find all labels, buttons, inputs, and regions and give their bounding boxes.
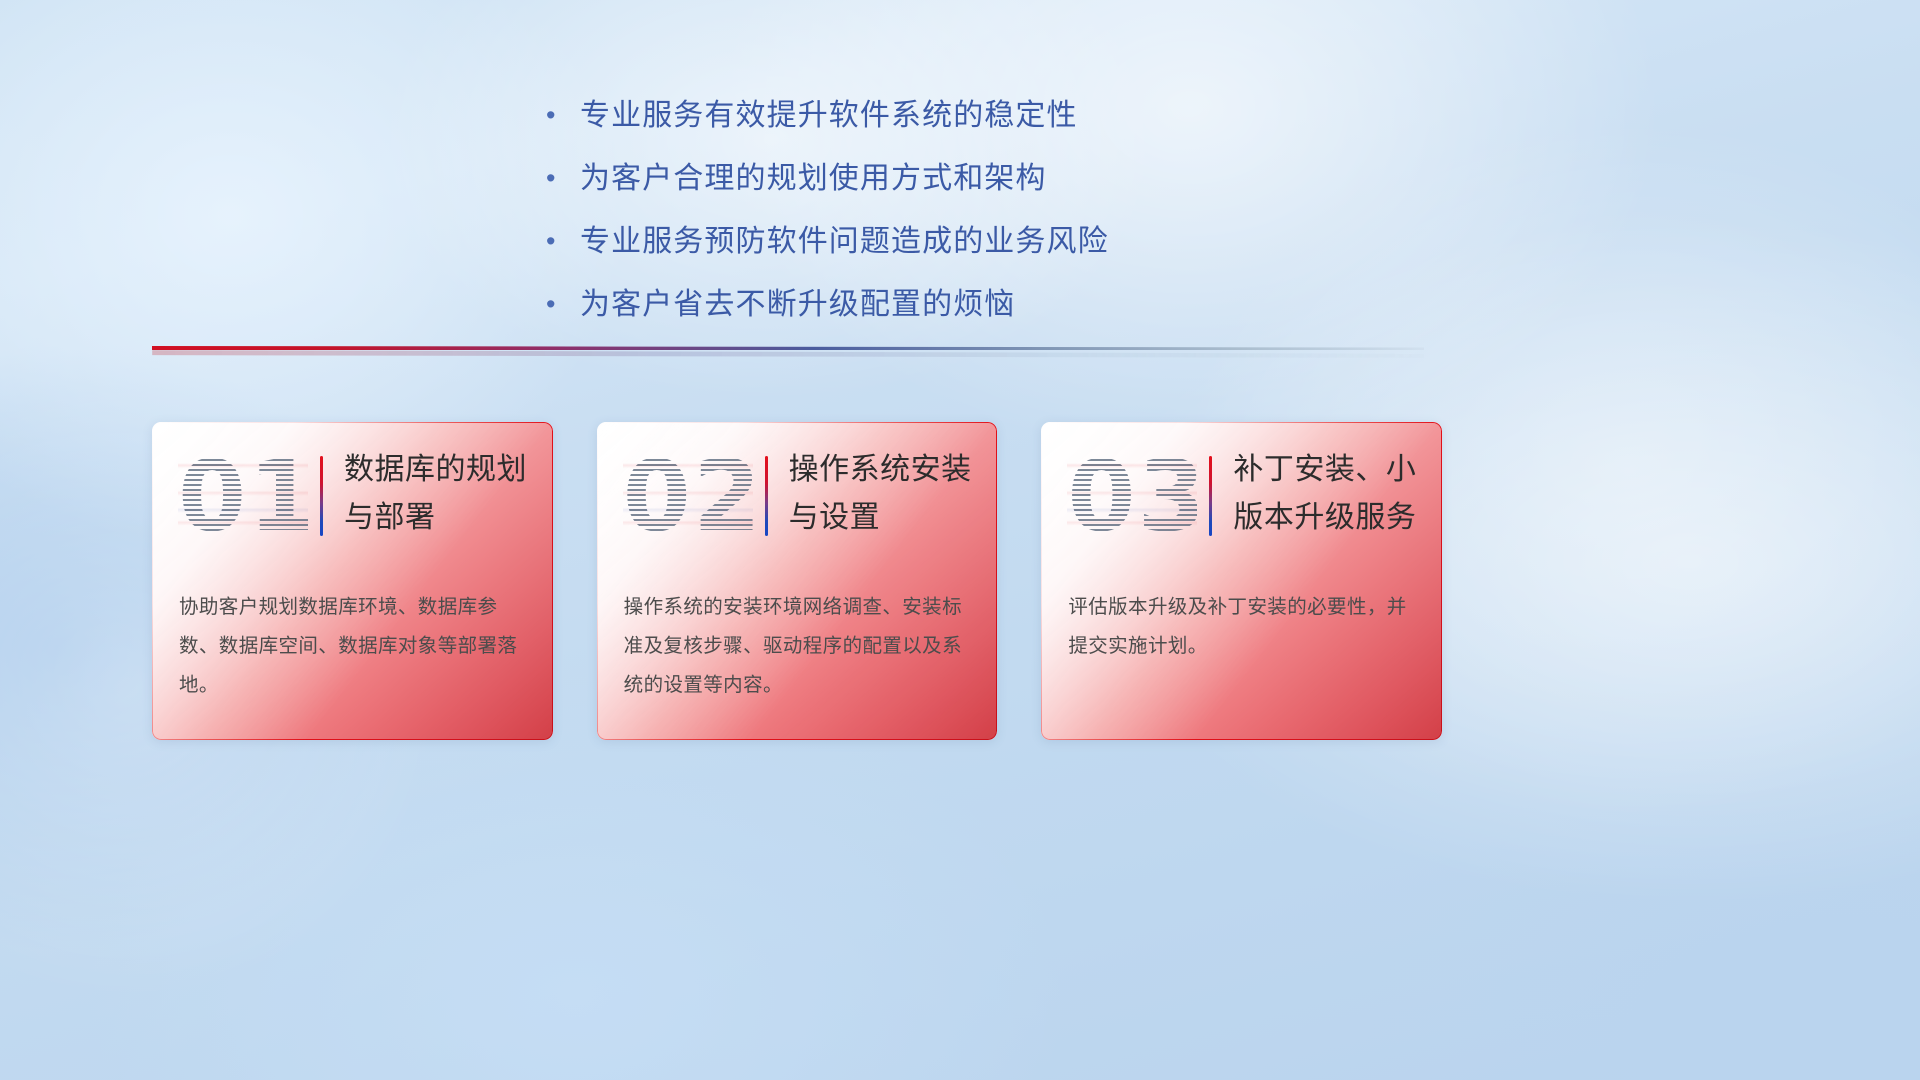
service-card-03[interactable]: 03 补丁安装、小 版本升级服务 评估版本升级及补丁安装的必要性，并提交实施计划… <box>1041 422 1442 740</box>
card-body-text: 协助客户规划数据库环境、数据库参数、数据库空间、数据库对象等部署落地。 <box>179 588 531 705</box>
card-title-line2: 版本升级服务 <box>1233 494 1423 542</box>
bullet-text: 专业服务有效提升软件系统的稳定性 <box>580 92 1078 139</box>
card-title-line1: 数据库的规划 <box>344 446 534 494</box>
card-number-watermark: 01 <box>178 444 308 550</box>
list-item: • 专业服务预防软件问题造成的业务风险 <box>540 218 1400 281</box>
card-title-line1: 操作系统安装 <box>789 446 979 494</box>
bullet-text: 为客户省去不断升级配置的烦恼 <box>580 281 1015 328</box>
bullet-text: 为客户合理的规划使用方式和架构 <box>580 155 1047 202</box>
benefits-bullet-list: • 专业服务有效提升软件系统的稳定性 • 为客户合理的规划使用方式和架构 • 专… <box>540 92 1400 344</box>
card-title: 操作系统安装 与设置 <box>789 446 979 542</box>
card-title-line2: 与部署 <box>344 494 534 542</box>
card-title: 数据库的规划 与部署 <box>344 446 534 542</box>
bullet-dot-icon: • <box>540 218 580 265</box>
card-title-accent-bar <box>320 456 323 536</box>
card-title-line2: 与设置 <box>789 494 979 542</box>
service-card-group: 01 数据库的规划 与部署 协助客户规划数据库环境、数据库参数、数据库空间、数据… <box>152 422 1442 742</box>
bullet-dot-icon: • <box>540 92 580 139</box>
divider-line-shadow <box>152 350 1424 358</box>
card-header: 01 数据库的规划 与部署 <box>152 422 553 572</box>
card-title-accent-bar <box>1209 456 1212 536</box>
card-header: 02 操作系统安装 与设置 <box>597 422 998 572</box>
card-number-watermark: 03 <box>1067 444 1197 550</box>
section-divider <box>152 346 1424 359</box>
card-title-line1: 补丁安装、小 <box>1233 446 1423 494</box>
service-card-02[interactable]: 02 操作系统安装 与设置 操作系统的安装环境网络调查、安装标准及复核步骤、驱动… <box>597 422 998 740</box>
card-number-text: 01 <box>178 444 308 550</box>
service-card-01[interactable]: 01 数据库的规划 与部署 协助客户规划数据库环境、数据库参数、数据库空间、数据… <box>152 422 553 740</box>
card-body-text: 操作系统的安装环境网络调查、安装标准及复核步骤、驱动程序的配置以及系统的设置等内… <box>624 588 976 705</box>
card-title: 补丁安装、小 版本升级服务 <box>1233 446 1423 542</box>
card-body-text: 评估版本升级及补丁安装的必要性，并提交实施计划。 <box>1068 588 1420 666</box>
card-header: 03 补丁安装、小 版本升级服务 <box>1041 422 1442 572</box>
slide-canvas: • 专业服务有效提升软件系统的稳定性 • 为客户合理的规划使用方式和架构 • 专… <box>0 0 1920 1080</box>
card-title-accent-bar <box>765 456 768 536</box>
card-number-text: 02 <box>623 444 753 550</box>
bullet-dot-icon: • <box>540 281 580 328</box>
card-number-text: 03 <box>1067 444 1197 550</box>
bullet-text: 专业服务预防软件问题造成的业务风险 <box>580 218 1109 265</box>
list-item: • 为客户合理的规划使用方式和架构 <box>540 155 1400 218</box>
divider-line-top <box>152 346 1424 350</box>
bullet-dot-icon: • <box>540 155 580 202</box>
list-item: • 专业服务有效提升软件系统的稳定性 <box>540 92 1400 155</box>
card-number-watermark: 02 <box>623 444 753 550</box>
list-item: • 为客户省去不断升级配置的烦恼 <box>540 281 1400 344</box>
